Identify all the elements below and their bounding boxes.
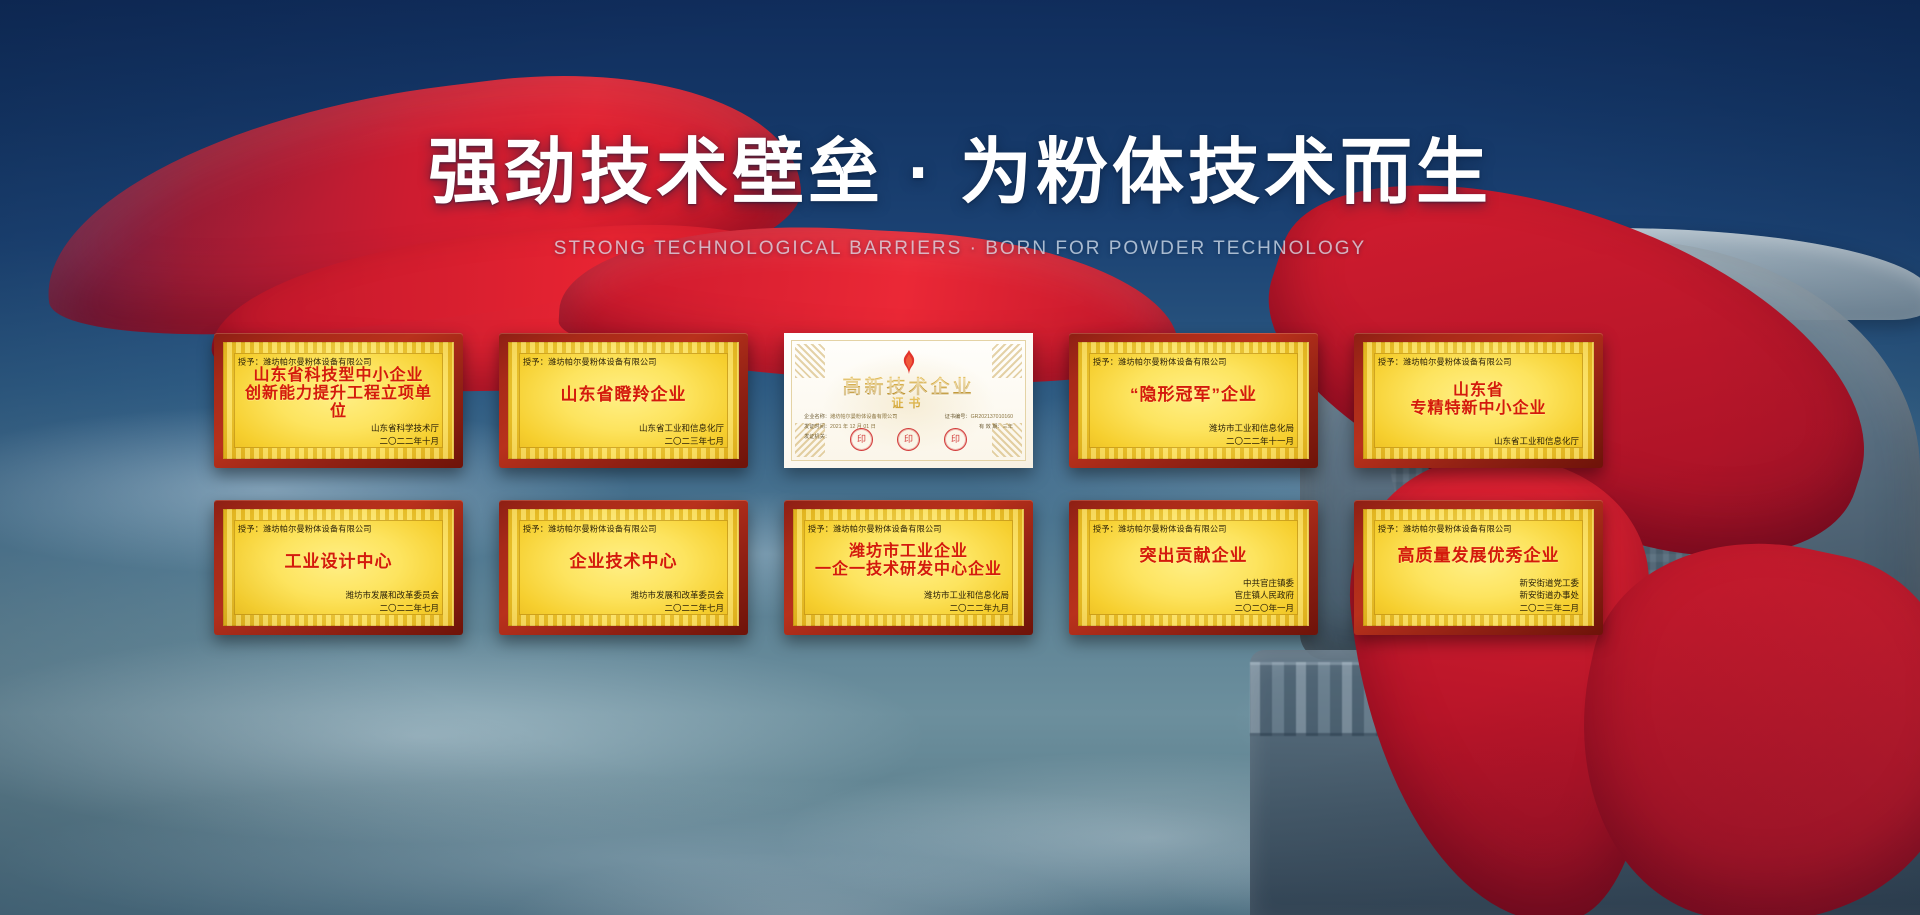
- plaque-face: 授予：潍坊帕尔曼粉体设备有限公司 工业设计中心 潍坊市发展和改革委员会 二〇二二…: [223, 509, 454, 626]
- award-company: 潍坊帕尔曼粉体设备有限公司: [1118, 357, 1227, 367]
- plaque-title-line2: 一企一技术研发中心企业: [808, 561, 1009, 579]
- banner-stage: 强劲技术壁垒 · 为粉体技术而生 STRONG TECHNOLOGICAL BA…: [0, 0, 1920, 915]
- plaque-issuer: 潍坊市工业和信息化局: [1093, 422, 1294, 434]
- plaque-award-line: 授予：潍坊帕尔曼粉体设备有限公司: [808, 523, 1001, 535]
- award-company: 潍坊帕尔曼粉体设备有限公司: [548, 524, 657, 534]
- award-prefix: 授予：: [523, 524, 548, 534]
- plaque-issuer: 山东省工业和信息化厅: [523, 422, 724, 434]
- plaque-award-line: 授予：潍坊帕尔曼粉体设备有限公司: [1378, 523, 1571, 535]
- plaque-award-line: 授予：潍坊帕尔曼粉体设备有限公司: [1093, 356, 1286, 368]
- honors-row-1: 授予：潍坊帕尔曼粉体设备有限公司 山东省科技型中小企业 创新能力提升工程立项单位…: [214, 333, 1714, 468]
- plaque-face: 授予：潍坊帕尔曼粉体设备有限公司 潍坊市工业企业 一企一技术研发中心企业 潍坊市…: [793, 509, 1024, 626]
- plaque-title-line1: 山东省: [1378, 382, 1579, 400]
- plaque-award-line: 授予：潍坊帕尔曼粉体设备有限公司: [238, 356, 431, 368]
- plaque-card[interactable]: 授予：潍坊帕尔曼粉体设备有限公司 突出贡献企业 中共官庄镇委 官庄镇人民政府 二…: [1069, 500, 1318, 635]
- official-seal-icon: 印: [944, 428, 967, 451]
- plaque-issuer: 潍坊市工业和信息化局: [808, 589, 1009, 601]
- plaque-award-line: 授予：潍坊帕尔曼粉体设备有限公司: [1378, 356, 1571, 368]
- plaque-issuer: 山东省科学技术厅: [238, 422, 439, 434]
- plaque-card[interactable]: 授予：潍坊帕尔曼粉体设备有限公司 山东省科技型中小企业 创新能力提升工程立项单位…: [214, 333, 463, 468]
- award-company: 潍坊帕尔曼粉体设备有限公司: [1118, 524, 1227, 534]
- high-tech-certificate[interactable]: 高新技术企业 证书 企业名称：潍坊帕尔曼粉体设备有限公司 证书编号：GR2021…: [784, 333, 1033, 468]
- plaque-date: 二〇二二年七月: [523, 602, 724, 614]
- plaque-title-line1: 潍坊市工业企业: [808, 543, 1009, 561]
- plaque-issuer-2: 官庄镇人民政府: [1093, 589, 1294, 601]
- plaque-date: 二〇二二年十一月: [1093, 435, 1294, 447]
- plaque-title-line1: 山东省瞪羚企业: [523, 385, 724, 404]
- plaque-award-line: 授予：潍坊帕尔曼粉体设备有限公司: [238, 523, 431, 535]
- plaque-issuer: 中共官庄镇委: [1093, 577, 1294, 589]
- certificate-face: 高新技术企业 证书 企业名称：潍坊帕尔曼粉体设备有限公司 证书编号：GR2021…: [791, 340, 1026, 461]
- plaque-card[interactable]: 授予：潍坊帕尔曼粉体设备有限公司 企业技术中心 潍坊市发展和改革委员会 二〇二二…: [499, 500, 748, 635]
- award-company: 潍坊帕尔曼粉体设备有限公司: [1403, 524, 1512, 534]
- plaque-title-line2: 创新能力提升工程立项单位: [238, 385, 439, 421]
- award-company: 潍坊帕尔曼粉体设备有限公司: [833, 524, 942, 534]
- cert-company-field: 企业名称：潍坊帕尔曼粉体设备有限公司: [804, 413, 897, 423]
- award-company: 潍坊帕尔曼粉体设备有限公司: [263, 524, 372, 534]
- plaque-award-line: 授予：潍坊帕尔曼粉体设备有限公司: [523, 523, 716, 535]
- plaque-face: 授予：潍坊帕尔曼粉体设备有限公司 “隐形冠军”企业 潍坊市工业和信息化局 二〇二…: [1078, 342, 1309, 459]
- cert-number-field: 证书编号：GR202137010160: [945, 413, 1013, 423]
- plaque-date: 二〇二二年九月: [808, 602, 1009, 614]
- plaque-issuer: 新安街道党工委: [1378, 577, 1579, 589]
- plaque-card[interactable]: 授予：潍坊帕尔曼粉体设备有限公司 潍坊市工业企业 一企一技术研发中心企业 潍坊市…: [784, 500, 1033, 635]
- award-prefix: 授予：: [523, 357, 548, 367]
- plaque-face: 授予：潍坊帕尔曼粉体设备有限公司 山东省 专精特新中小企业 山东省工业和信息化厅: [1363, 342, 1594, 459]
- award-prefix: 授予：: [238, 357, 263, 367]
- plaque-issuer-2: 新安街道办事处: [1378, 589, 1579, 601]
- plaque-title-line1: 突出贡献企业: [1093, 546, 1294, 565]
- award-company: 潍坊帕尔曼粉体设备有限公司: [263, 357, 372, 367]
- plaque-footer: 潍坊市发展和改革委员会 二〇二二年七月: [523, 589, 724, 614]
- plaque-date: 二〇二〇年一月: [1093, 602, 1294, 614]
- plaque-card[interactable]: 授予：潍坊帕尔曼粉体设备有限公司 山东省 专精特新中小企业 山东省工业和信息化厅: [1354, 333, 1603, 468]
- plaque-face: 授予：潍坊帕尔曼粉体设备有限公司 企业技术中心 潍坊市发展和改革委员会 二〇二二…: [508, 509, 739, 626]
- plaque-footer: 潍坊市工业和信息化局 二〇二二年十一月: [1093, 422, 1294, 447]
- plaque-date: 二〇二三年二月: [1378, 602, 1579, 614]
- flame-logo-icon: [899, 350, 919, 374]
- plaque-footer: 山东省工业和信息化厅 二〇二三年七月: [523, 422, 724, 447]
- plaque-card[interactable]: 授予：潍坊帕尔曼粉体设备有限公司 高质量发展优秀企业 新安街道党工委 新安街道办…: [1354, 500, 1603, 635]
- plaque-footer: 中共官庄镇委 官庄镇人民政府 二〇二〇年一月: [1093, 577, 1294, 614]
- certificate-seals: 印 印 印: [792, 428, 1025, 451]
- plaque-date: 二〇二二年十月: [238, 435, 439, 447]
- plaque-issuer: 潍坊市发展和改革委员会: [523, 589, 724, 601]
- ding-base-carving: [1250, 662, 1920, 736]
- award-company: 潍坊帕尔曼粉体设备有限公司: [1403, 357, 1512, 367]
- plaque-title-line2: 专精特新中小企业: [1378, 400, 1579, 418]
- page-subtitle: STRONG TECHNOLOGICAL BARRIERS · BORN FOR…: [0, 238, 1920, 260]
- plaque-title-line1: 企业技术中心: [523, 552, 724, 571]
- plaque-face: 授予：潍坊帕尔曼粉体设备有限公司 高质量发展优秀企业 新安街道党工委 新安街道办…: [1363, 509, 1594, 626]
- plaque-issuer: 潍坊市发展和改革委员会: [238, 589, 439, 601]
- page-title: 强劲技术壁垒 · 为粉体技术而生: [0, 136, 1920, 212]
- plaque-title-line1: “隐形冠军”企业: [1093, 385, 1294, 404]
- plaque-award-line: 授予：潍坊帕尔曼粉体设备有限公司: [1093, 523, 1286, 535]
- plaque-issuer: 山东省工业和信息化厅: [1378, 435, 1579, 447]
- plaque-face: 授予：潍坊帕尔曼粉体设备有限公司 山东省瞪羚企业 山东省工业和信息化厅 二〇二三…: [508, 342, 739, 459]
- plaque-title-line1: 山东省科技型中小企业: [238, 367, 439, 385]
- plaque-date: 二〇二三年七月: [523, 435, 724, 447]
- award-prefix: 授予：: [808, 524, 833, 534]
- award-prefix: 授予：: [1093, 357, 1118, 367]
- plaque-card[interactable]: 授予：潍坊帕尔曼粉体设备有限公司 工业设计中心 潍坊市发展和改革委员会 二〇二二…: [214, 500, 463, 635]
- plaque-footer: 山东省工业和信息化厅: [1378, 435, 1579, 447]
- plaque-footer: 潍坊市发展和改革委员会 二〇二二年七月: [238, 589, 439, 614]
- official-seal-icon: 印: [897, 428, 920, 451]
- plaque-face: 授予：潍坊帕尔曼粉体设备有限公司 突出贡献企业 中共官庄镇委 官庄镇人民政府 二…: [1078, 509, 1309, 626]
- plaque-title-line1: 工业设计中心: [238, 552, 439, 571]
- award-prefix: 授予：: [1378, 357, 1403, 367]
- plaque-award-line: 授予：潍坊帕尔曼粉体设备有限公司: [523, 356, 716, 368]
- honors-row-2: 授予：潍坊帕尔曼粉体设备有限公司 工业设计中心 潍坊市发展和改革委员会 二〇二二…: [214, 500, 1714, 635]
- award-prefix: 授予：: [238, 524, 263, 534]
- official-seal-icon: 印: [850, 428, 873, 451]
- plaque-title-line1: 高质量发展优秀企业: [1378, 546, 1579, 565]
- plaque-footer: 潍坊市工业和信息化局 二〇二二年九月: [808, 589, 1009, 614]
- award-prefix: 授予：: [1093, 524, 1118, 534]
- plaque-date: 二〇二二年七月: [238, 602, 439, 614]
- plaque-footer: 山东省科学技术厅 二〇二二年十月: [238, 422, 439, 447]
- certificate-subtitle: 证书: [792, 394, 1025, 411]
- award-company: 潍坊帕尔曼粉体设备有限公司: [548, 357, 657, 367]
- plaque-card[interactable]: 授予：潍坊帕尔曼粉体设备有限公司 “隐形冠军”企业 潍坊市工业和信息化局 二〇二…: [1069, 333, 1318, 468]
- headline-block: 强劲技术壁垒 · 为粉体技术而生 STRONG TECHNOLOGICAL BA…: [0, 136, 1920, 260]
- plaque-face: 授予：潍坊帕尔曼粉体设备有限公司 山东省科技型中小企业 创新能力提升工程立项单位…: [223, 342, 454, 459]
- honors-grid: 授予：潍坊帕尔曼粉体设备有限公司 山东省科技型中小企业 创新能力提升工程立项单位…: [214, 333, 1714, 635]
- award-prefix: 授予：: [1378, 524, 1403, 534]
- plaque-footer: 新安街道党工委 新安街道办事处 二〇二三年二月: [1378, 577, 1579, 614]
- plaque-card[interactable]: 授予：潍坊帕尔曼粉体设备有限公司 山东省瞪羚企业 山东省工业和信息化厅 二〇二三…: [499, 333, 748, 468]
